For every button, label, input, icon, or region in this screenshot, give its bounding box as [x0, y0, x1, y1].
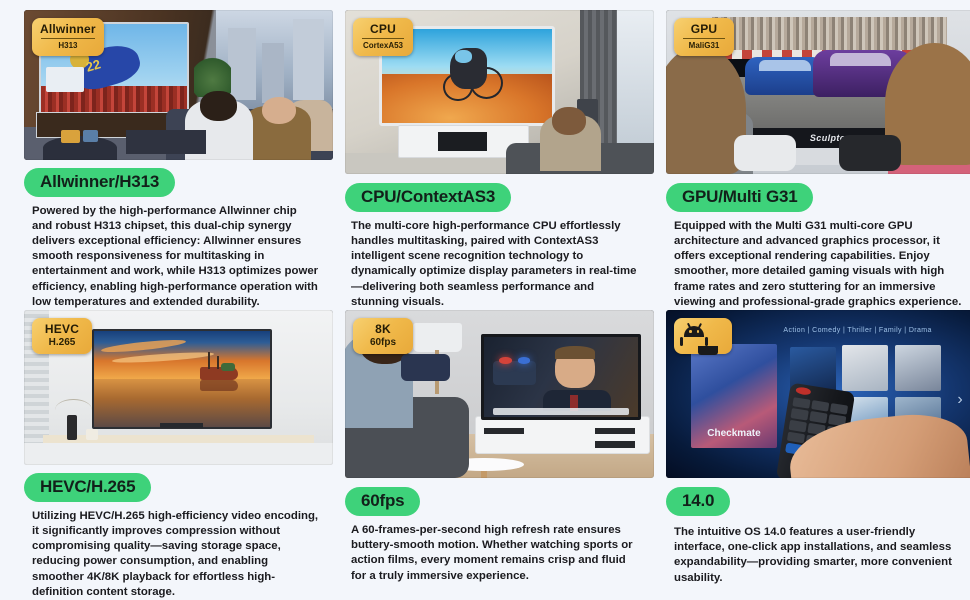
chip-badge-hevc: HEVC H.265 — [32, 318, 92, 354]
feature-description: Equipped with the Multi G31 multi-core G… — [674, 219, 964, 310]
android-icon — [681, 324, 707, 348]
card-image-two-gamers-racing-game: Sculptor GPU MaliG31 — [666, 10, 970, 174]
badge-divider — [41, 38, 95, 39]
feature-card-cpu-contextas3: CPU CortexA53 CPU/ContextAS3 The multi-c… — [338, 10, 656, 310]
chip-badge-android — [674, 318, 732, 354]
feature-card-os-14: Action | Comedy | Thriller | Family | Dr… — [660, 310, 970, 600]
feature-heading-pill: CPU/ContextAS3 — [345, 183, 511, 212]
badge-divider — [683, 38, 725, 39]
feature-grid: 22 Allwinner H313 A — [16, 10, 962, 600]
heading-row: CPU/ContextAS3 — [345, 182, 656, 211]
feature-description: The multi-core high-performance CPU effo… — [351, 219, 642, 310]
badge-title: Allwinner — [40, 23, 96, 36]
feature-heading-pill: 14.0 — [666, 487, 730, 516]
heading-row: 14.0 — [666, 486, 970, 516]
card-image-living-room-mountain-biker-tv: CPU CortexA53 — [345, 10, 654, 174]
badge-divider — [362, 38, 404, 39]
feature-heading-pill: 60fps — [345, 487, 420, 516]
badge-subtitle: H.265 — [40, 337, 84, 349]
feature-description: A 60-frames-per-second high refresh rate… — [351, 523, 642, 584]
feature-description: The intuitive OS 14.0 features a user-fr… — [674, 525, 964, 586]
badge-title: HEVC — [40, 323, 84, 336]
card-image-wall-mounted-tv-sunset-boat: HEVC H.265 — [24, 310, 333, 465]
badge-subtitle: CortexA53 — [361, 41, 405, 51]
card-image-man-on-couch-watching-drama: 8K 60fps — [345, 310, 654, 478]
badge-title: GPU — [682, 23, 726, 36]
category-nav-label: Action | Comedy | Thriller | Family | Dr… — [783, 327, 962, 334]
badge-title: 8K — [361, 323, 405, 336]
chevron-right-icon: › — [957, 391, 962, 409]
heading-row: Allwinner/H313 — [24, 168, 334, 197]
feature-description: Utilizing HEVC/H.265 high-efficiency vid… — [32, 509, 320, 600]
feature-card-60fps: 8K 60fps 60fps A 60-frames-per-second hi… — [338, 310, 656, 600]
badge-title: CPU — [361, 23, 405, 36]
feature-heading-pill: Allwinner/H313 — [24, 168, 175, 197]
chip-badge-8k: 8K 60fps — [353, 318, 413, 354]
poster-title: Checkmate — [694, 428, 774, 439]
badge-subtitle: MaliG31 — [682, 41, 726, 51]
heading-row: HEVC/H.265 — [24, 473, 334, 502]
card-image-remote-control-streaming-ui: Action | Comedy | Thriller | Family | Dr… — [666, 310, 970, 478]
badge-subtitle: H313 — [40, 41, 96, 51]
chip-badge-gpu: GPU MaliG31 — [674, 18, 734, 56]
feature-heading-pill: HEVC/H.265 — [24, 473, 151, 502]
chip-badge-allwinner: Allwinner H313 — [32, 18, 104, 56]
feature-card-hevc-h265: HEVC H.265 HEVC/H.265 Utilizing HEVC/H.2… — [16, 310, 334, 600]
feature-grid-page: 22 Allwinner H313 A — [0, 0, 970, 600]
badge-subtitle: 60fps — [361, 337, 405, 349]
feature-card-gpu-multi-g31: Sculptor GPU MaliG31 GPU/Multi G31 Equip… — [660, 10, 970, 310]
feature-heading-pill: GPU/Multi G31 — [666, 183, 813, 212]
feature-description: Powered by the high-performance Allwinne… — [32, 204, 320, 310]
card-image-living-room-football-tv: 22 Allwinner H313 — [24, 10, 333, 160]
heading-row: GPU/Multi G31 — [666, 182, 970, 211]
feature-card-allwinner-h313: 22 Allwinner H313 A — [16, 10, 334, 310]
chip-badge-cpu: CPU CortexA53 — [353, 18, 413, 56]
heading-row: 60fps — [345, 486, 656, 516]
